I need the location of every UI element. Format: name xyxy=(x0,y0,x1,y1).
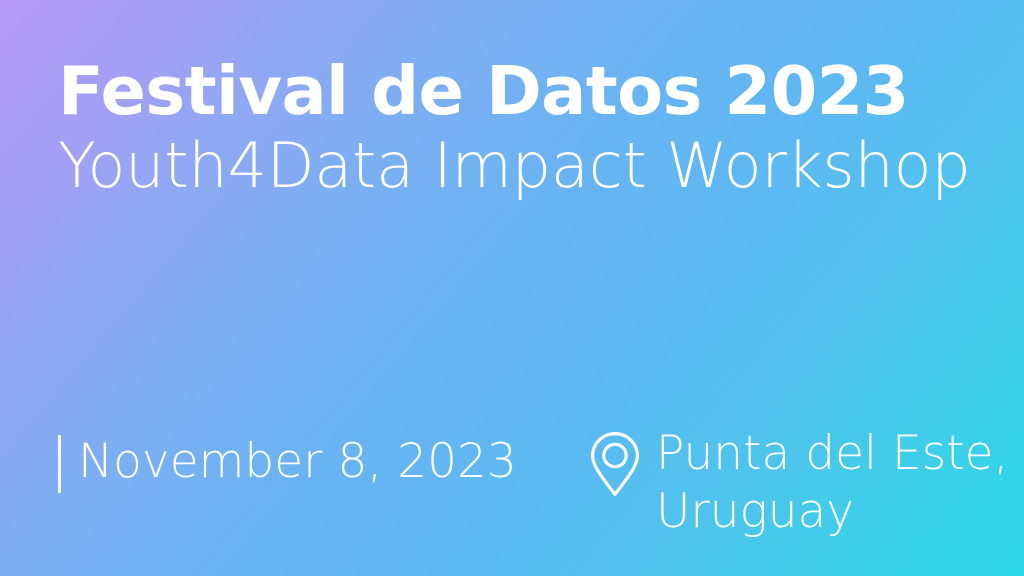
event-date-block: November 8, 2023 xyxy=(58,432,517,493)
event-location-line-2: Uruguay xyxy=(656,483,986,541)
map-pin-icon xyxy=(590,431,640,497)
event-subtitle: Youth4Data Impact Workshop xyxy=(58,128,978,204)
event-banner: Festival de Datos 2023 Youth4Data Impact… xyxy=(0,0,1024,576)
event-title: Festival de Datos 2023 xyxy=(58,52,978,130)
event-info-row: November 8, 2023 Punta del Este, Uruguay xyxy=(58,420,984,550)
headline-block: Festival de Datos 2023 Youth4Data Impact… xyxy=(58,52,978,204)
event-location-line-1: Punta del Este, xyxy=(656,425,986,483)
vertical-bar-divider-icon xyxy=(58,435,61,493)
event-location-text: Punta del Este, Uruguay xyxy=(656,425,986,541)
event-location-block: Punta del Este, Uruguay xyxy=(590,425,986,541)
event-date-text: November 8, 2023 xyxy=(78,432,517,492)
